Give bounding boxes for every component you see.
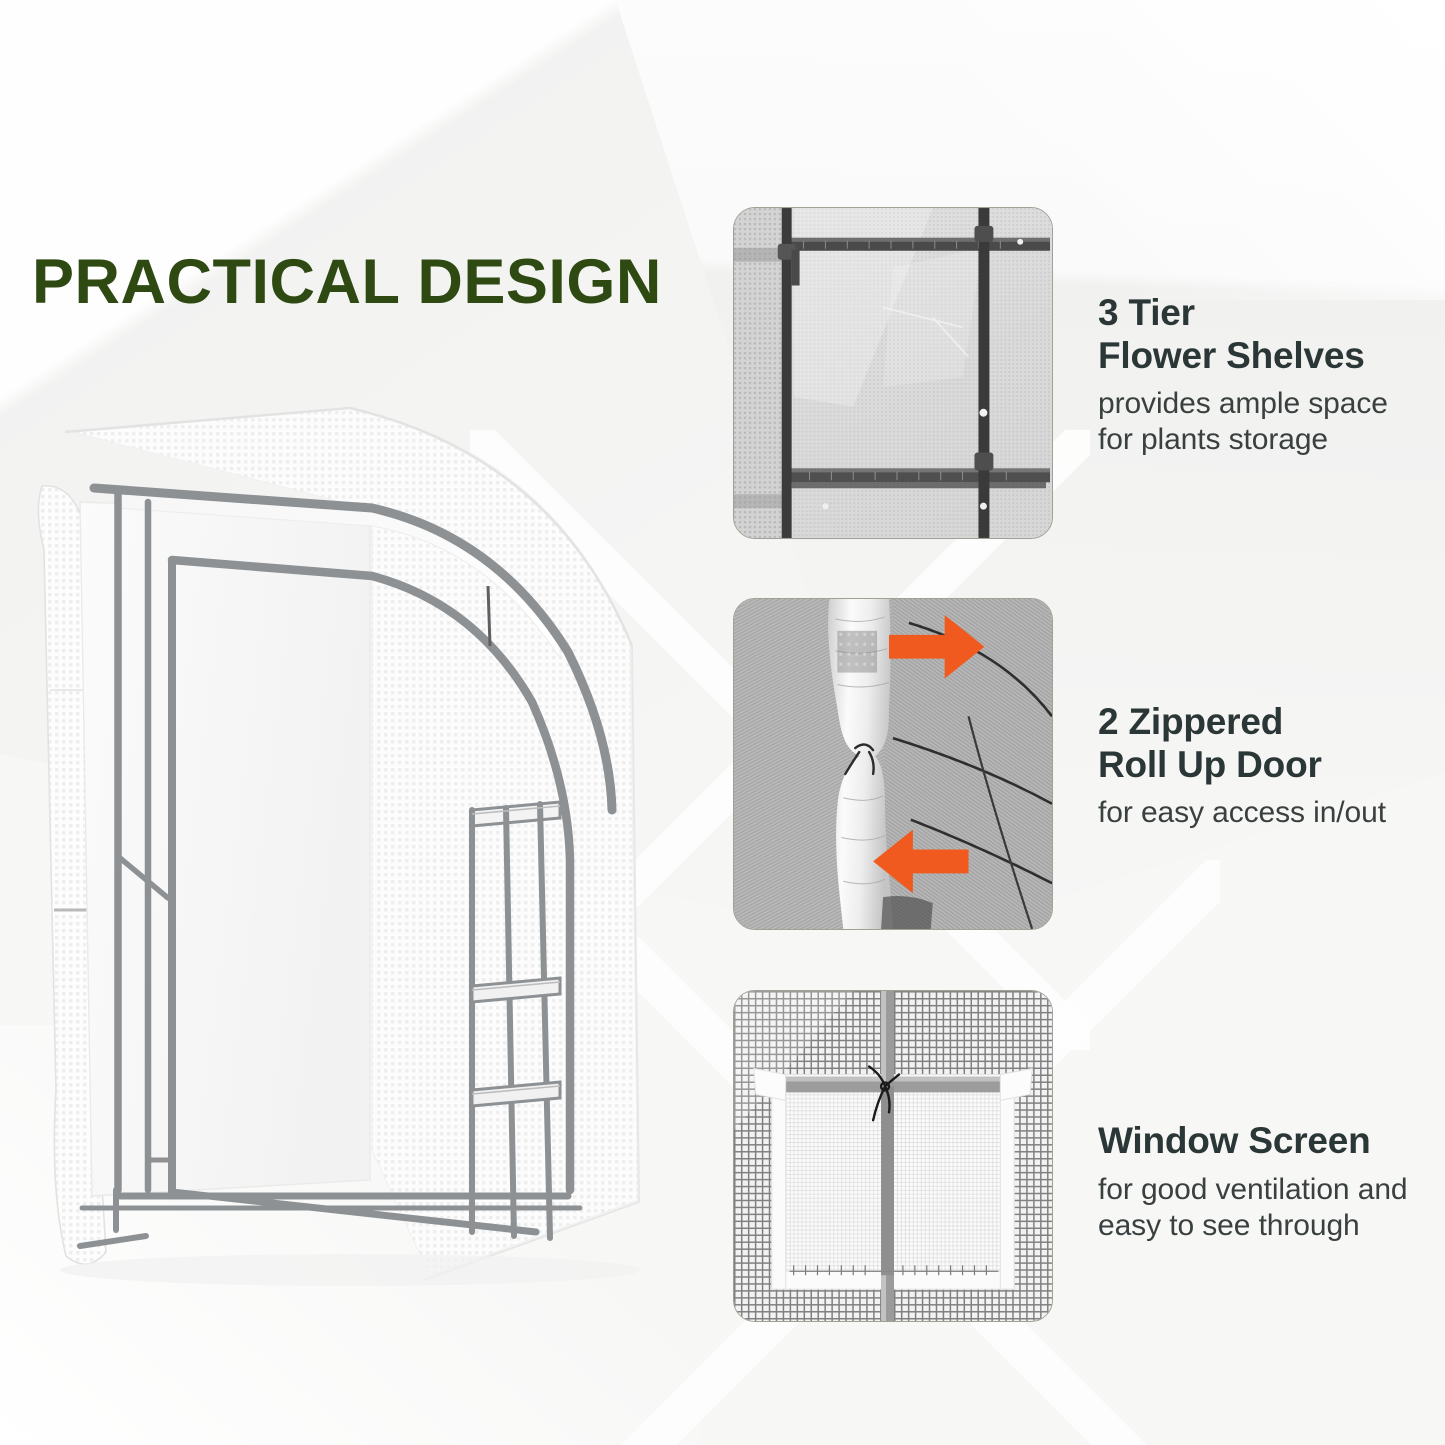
product-infographic: PRACTICAL DESIGN — [0, 0, 1445, 1445]
greenhouse-shelves-photo — [733, 207, 1053, 539]
feature-description: for easy access in/out — [1098, 795, 1386, 831]
product-illustration — [20, 390, 710, 1320]
feature-text-block: Window Screen for good ventilation and e… — [1098, 1068, 1408, 1244]
page-title: PRACTICAL DESIGN — [32, 246, 662, 318]
feature-row-roll-up-door: 2 Zippered Roll Up Door for easy access … — [733, 598, 1433, 930]
feature-row-window-screen: Window Screen for good ventilation and e… — [733, 990, 1433, 1322]
feature-title: 3 Tier Flower Shelves — [1098, 292, 1388, 378]
feature-description: for good ventilation and easy to see thr… — [1098, 1172, 1408, 1244]
window-screen-photo — [733, 990, 1053, 1322]
feature-title: 2 Zippered Roll Up Door — [1098, 701, 1386, 787]
feature-description: provides ample space for plants storage — [1098, 386, 1388, 458]
feature-text-block: 2 Zippered Roll Up Door for easy access … — [1098, 697, 1386, 832]
rolled-up-door-photo — [733, 598, 1053, 930]
front-wall-panel — [80, 502, 370, 1196]
feature-title: Window Screen — [1098, 1120, 1408, 1163]
feature-text-block: 3 Tier Flower Shelves provides ample spa… — [1098, 288, 1388, 459]
feature-row-flower-shelves: 3 Tier Flower Shelves provides ample spa… — [733, 207, 1433, 539]
